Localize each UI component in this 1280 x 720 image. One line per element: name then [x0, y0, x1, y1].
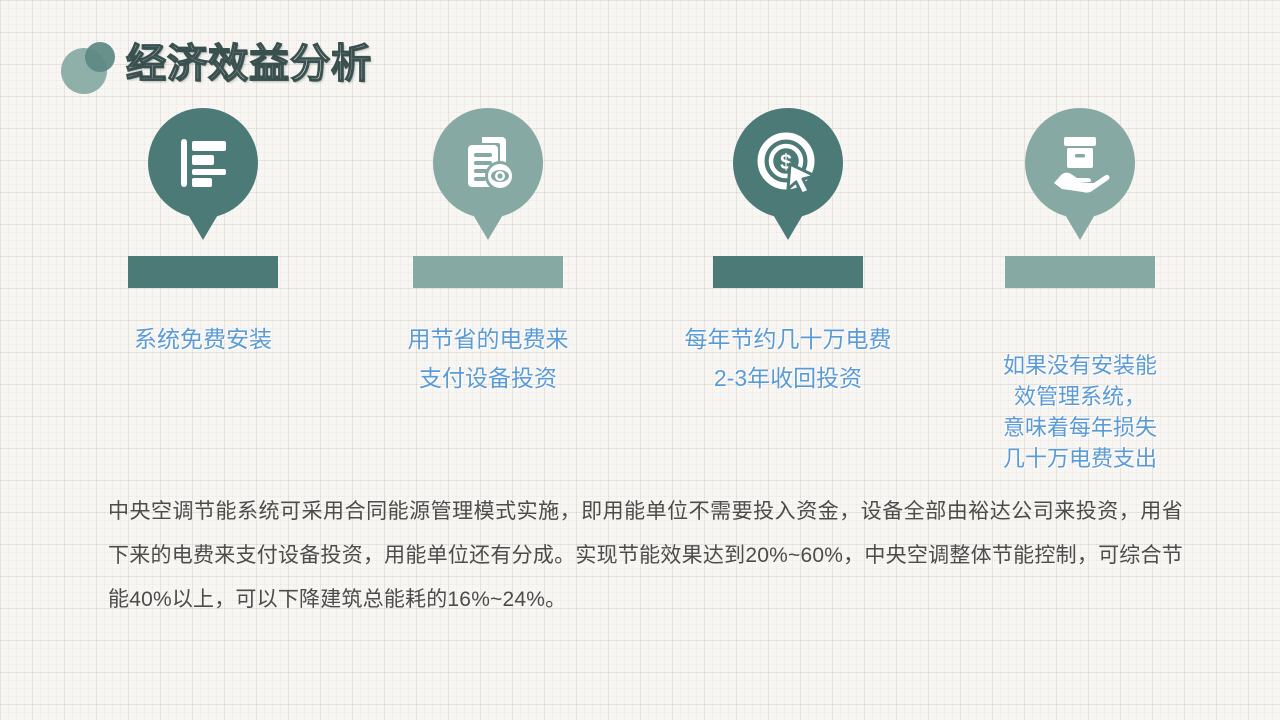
- caption-line: 几十万电费支出: [930, 443, 1230, 474]
- caption-line: 意味着每年损失: [930, 412, 1230, 443]
- caption-line: 每年节约几十万电费: [638, 320, 938, 359]
- caption-line: 支付设备投资: [338, 359, 638, 398]
- pin-base-bar-1: [128, 256, 278, 288]
- pin-base-bar-3: [713, 256, 863, 288]
- pin-graphic-4: [930, 108, 1230, 230]
- pin-graphic-3: $: [638, 108, 938, 230]
- pin-tail-2: [462, 196, 514, 240]
- pin-graphic-1: [53, 108, 353, 230]
- caption-line: 系统免费安装: [53, 320, 353, 359]
- benefit-caption-1: 系统免费安装: [53, 320, 353, 359]
- header-decoration: [58, 40, 120, 94]
- circle-decor-small-icon: [85, 42, 115, 72]
- caption-line: 用节省的电费来: [338, 320, 638, 359]
- map-pin-2: [433, 108, 543, 218]
- document-review-eye-icon: [456, 131, 520, 195]
- benefit-column-2: 用节省的电费来 支付设备投资: [338, 108, 638, 230]
- pin-base-bar-4: [1005, 256, 1155, 288]
- benefit-caption-2: 用节省的电费来 支付设备投资: [338, 320, 638, 398]
- caption-line: 2-3年收回投资: [638, 359, 938, 398]
- body-paragraph: 中央空调节能系统可采用合同能源管理模式实施，即用能单位不需要投入资金，设备全部由…: [108, 490, 1183, 622]
- benefit-caption-3: 每年节约几十万电费 2-3年收回投资: [638, 320, 938, 398]
- benefit-column-1: 系统免费安装: [53, 108, 353, 230]
- hand-holding-box-icon: [1048, 131, 1112, 195]
- slide-canvas: 经济效益分析 系统免费安装: [0, 0, 1280, 720]
- caption-line: 如果没有安装能: [930, 350, 1230, 381]
- bar-chart-list-icon: [171, 131, 235, 195]
- caption-line: 效管理系统，: [930, 381, 1230, 412]
- benefit-column-3: $ 每年节约几十万电费 2-3年收回投资: [638, 108, 938, 230]
- map-pin-4: [1025, 108, 1135, 218]
- pin-tail-3: [762, 196, 814, 240]
- pin-graphic-2: [338, 108, 638, 230]
- benefit-caption-4: 如果没有安装能 效管理系统， 意味着每年损失 几十万电费支出: [930, 350, 1230, 474]
- pin-base-bar-2: [413, 256, 563, 288]
- map-pin-3: $: [733, 108, 843, 218]
- page-title: 经济效益分析: [126, 34, 372, 94]
- benefit-column-4: 如果没有安装能 效管理系统， 意味着每年损失 几十万电费支出: [930, 108, 1230, 230]
- slide-header: 经济效益分析: [58, 34, 578, 98]
- pin-tail-1: [177, 196, 229, 240]
- map-pin-1: [148, 108, 258, 218]
- pin-tail-4: [1054, 196, 1106, 240]
- dollar-coin-cursor-icon: $: [756, 131, 820, 195]
